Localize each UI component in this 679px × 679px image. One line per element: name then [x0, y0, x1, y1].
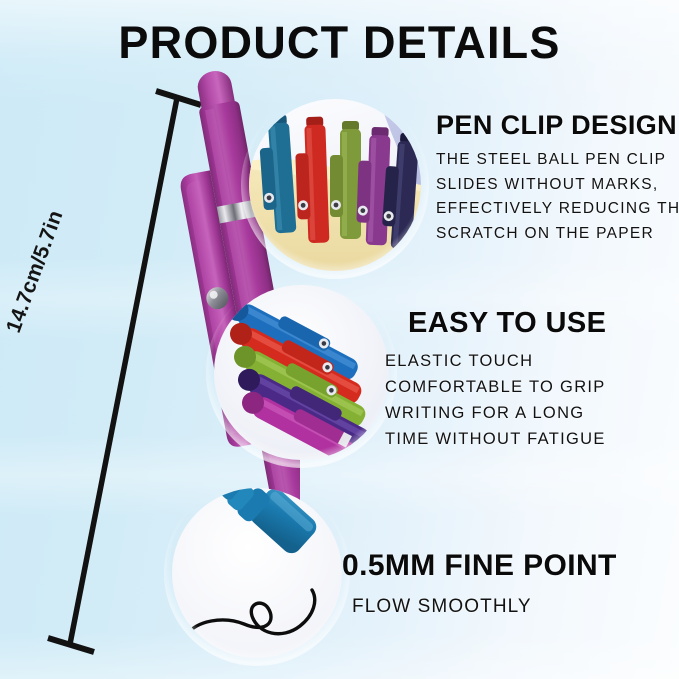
body-line: SLIDES WITHOUT MARKS, [436, 173, 679, 198]
infographic-canvas: PRODUCT DETAILS 14.7cm/5.7in [0, 0, 679, 679]
photo-easy-to-use [214, 285, 389, 460]
body-line: ELASTIC TOUCH [385, 348, 606, 374]
section-heading-fine-point: 0.5MM FINE POINT [342, 549, 617, 583]
body-line: COMFORTABLE TO GRIP [385, 374, 606, 400]
body-line: SCRATCH ON THE PAPER [436, 222, 679, 247]
section-heading-pen-clip-design: PEN CLIP DESIGN [436, 110, 677, 141]
section-body-fine-point: FLOW SMOOTHLY [352, 594, 532, 620]
photo-fine-point [172, 488, 342, 658]
body-line: EFFECTIVELY REDUCING THE [436, 197, 679, 222]
body-line: TIME WITHOUT FATIGUE [385, 426, 606, 452]
body-line: FLOW SMOOTHLY [352, 594, 532, 620]
section-body-pen-clip-design: THE STEEL BALL PEN CLIP SLIDES WITHOUT M… [436, 148, 679, 246]
section-heading-easy-to-use: EASY TO USE [408, 307, 606, 340]
body-line: THE STEEL BALL PEN CLIP [436, 148, 679, 173]
section-body-easy-to-use: ELASTIC TOUCH COMFORTABLE TO GRIP WRITIN… [385, 348, 606, 452]
photo-pen-clip-design [249, 99, 421, 271]
body-line: WRITING FOR A LONG [385, 400, 606, 426]
